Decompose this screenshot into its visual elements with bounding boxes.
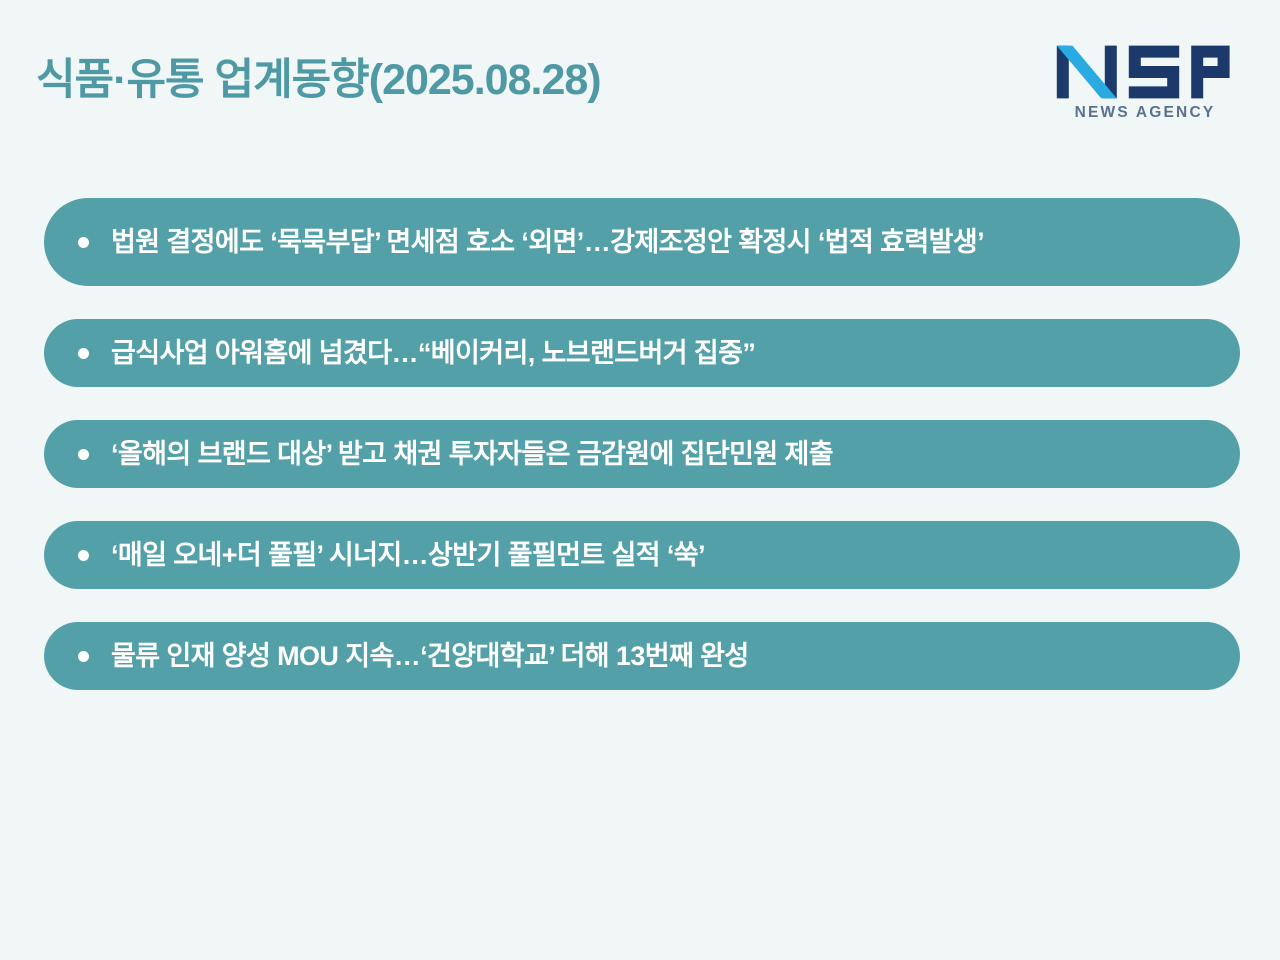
bullet-dot-icon <box>78 550 89 561</box>
slide-header: 식품·유통 업계동향(2025.08.28) NEWS AGENCY <box>0 0 1280 165</box>
nsp-logo: NEWS AGENCY <box>1052 42 1238 134</box>
bullet-dot-icon <box>78 237 89 248</box>
list-item-label: ‘올해의 브랜드 대상’ 받고 채권 투자자들은 금감원에 집단민원 제출 <box>111 438 1200 471</box>
list-item[interactable]: 물류 인재 양성 MOU 지속…‘건양대학교’ 더해 13번째 완성 <box>44 622 1240 690</box>
bullet-dot-icon <box>78 651 89 662</box>
list-item-label: 급식사업 아워홈에 넘겼다…“베이커리, 노브랜드버거 집중” <box>111 337 1200 370</box>
bullet-dot-icon <box>78 449 89 460</box>
bullet-dot-icon <box>78 348 89 359</box>
list-item[interactable]: ‘매일 오네+더 풀필’ 시너지…상반기 풀필먼트 실적 ‘쑥’ <box>44 521 1240 589</box>
list-item[interactable]: ‘올해의 브랜드 대상’ 받고 채권 투자자들은 금감원에 집단민원 제출 <box>44 420 1240 488</box>
slide-canvas: 식품·유통 업계동향(2025.08.28) NEWS AGENCY 법원 결정… <box>0 0 1280 960</box>
list-item[interactable]: 법원 결정에도 ‘묵묵부답’ 면세점 호소 ‘외면’…강제조정안 확정시 ‘법적… <box>44 198 1240 286</box>
bullet-list: 법원 결정에도 ‘묵묵부답’ 면세점 호소 ‘외면’…강제조정안 확정시 ‘법적… <box>44 198 1240 723</box>
page-title: 식품·유통 업계동향(2025.08.28) <box>36 56 601 105</box>
list-item-label: 물류 인재 양성 MOU 지속…‘건양대학교’ 더해 13번째 완성 <box>111 640 1200 673</box>
list-item-label: 법원 결정에도 ‘묵묵부답’ 면세점 호소 ‘외면’…강제조정안 확정시 ‘법적… <box>111 226 1200 259</box>
list-item-label: ‘매일 오네+더 풀필’ 시너지…상반기 풀필먼트 실적 ‘쑥’ <box>111 539 1200 572</box>
logo-subtitle: NEWS AGENCY <box>1052 104 1238 122</box>
list-item[interactable]: 급식사업 아워홈에 넘겼다…“베이커리, 노브랜드버거 집중” <box>44 319 1240 387</box>
nsp-logo-mark <box>1052 42 1238 102</box>
